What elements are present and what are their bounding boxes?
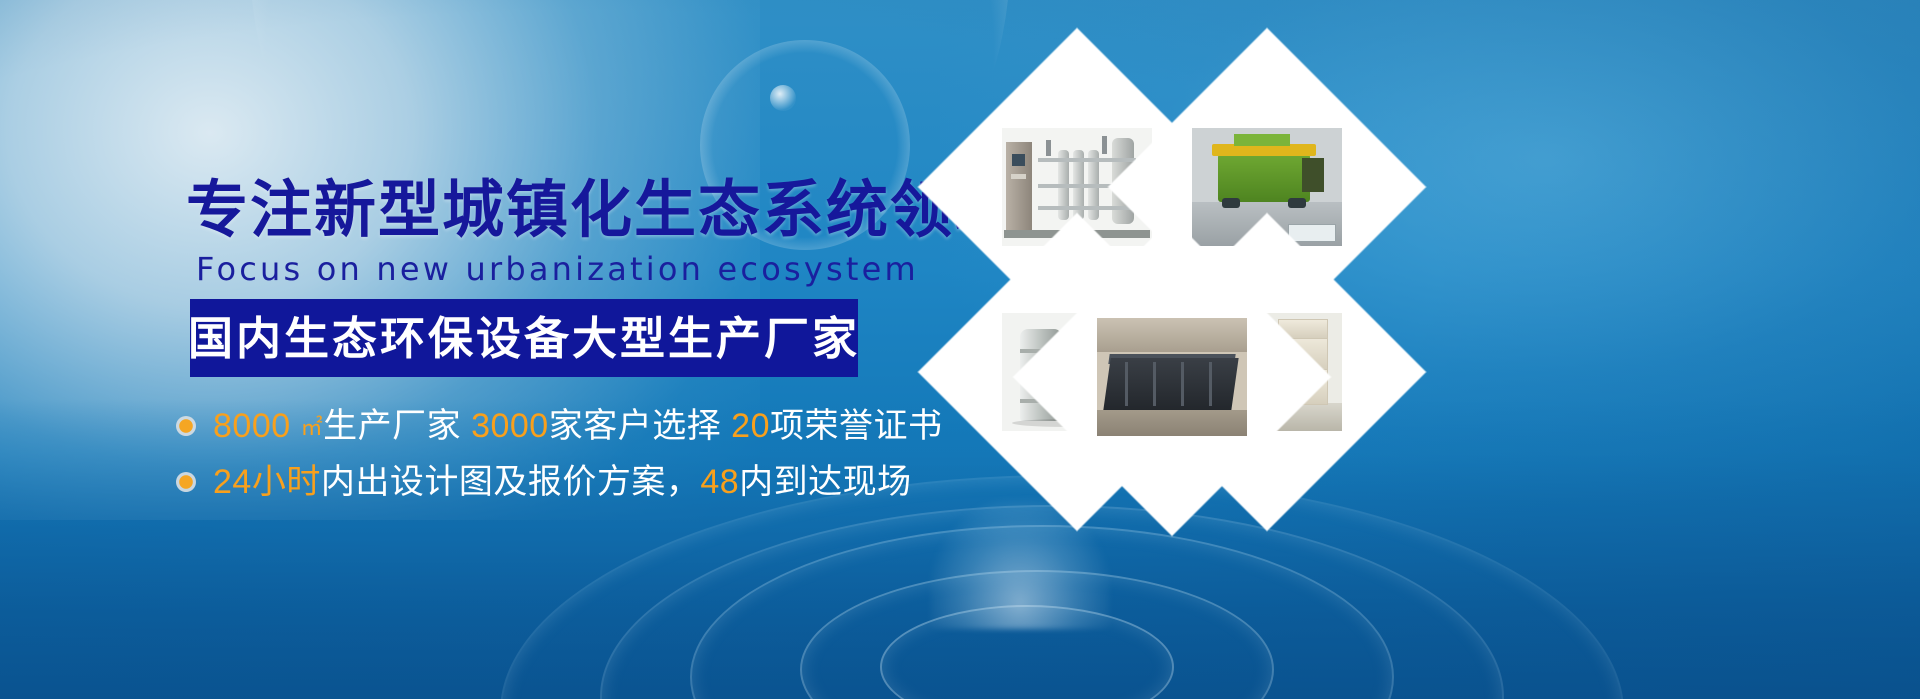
bullet-dot-icon <box>176 416 196 436</box>
bullet-2-seg-2: 48 <box>700 463 739 501</box>
bullet-text-1: 8000 ㎡生产厂家 3000家客户选择 20项荣誉证书 <box>213 409 942 443</box>
list-item: 24小时内出设计图及报价方案，48内到达现场 <box>176 458 942 506</box>
bullet-1-seg-2: 生产厂家 <box>323 407 471 445</box>
list-item: 8000 ㎡生产厂家 3000家客户选择 20项荣誉证书 <box>176 402 942 450</box>
feature-bullets: 8000 ㎡生产厂家 3000家客户选择 20项荣誉证书 24小时内出设计图及报… <box>176 402 942 514</box>
black-tank-cover-image <box>1097 318 1247 436</box>
bullet-1-seg-3: 3000 <box>471 407 549 445</box>
tagline-box: 国内生态环保设备大型生产厂家 <box>190 299 858 377</box>
bullet-2-seg-3: 内到达现场 <box>739 463 912 501</box>
banner-copy: 专注新型城镇化生态系统领域 Focus on new urbanization … <box>0 0 920 699</box>
bullet-1-seg-5: 20 <box>731 407 770 445</box>
tagline-text: 国内生态环保设备大型生产厂家 <box>188 316 860 361</box>
product-gallery <box>905 20 1920 660</box>
bullet-2-seg-1: 内出设计图及报价方案， <box>321 463 701 501</box>
page-subtitle: Focus on new urbanization ecosystem <box>196 250 919 288</box>
hero-banner: 专注新型城镇化生态系统领域 Focus on new urbanization … <box>0 0 1920 699</box>
bullet-2-seg-0: 24小时 <box>213 463 321 501</box>
bullet-1-seg-0: 8000 <box>213 407 301 445</box>
bullet-1-seg-1: ㎡ <box>301 415 324 440</box>
page-title: 专注新型城镇化生态系统领域 <box>186 180 1018 242</box>
bullet-text-2: 24小时内出设计图及报价方案，48内到达现场 <box>213 465 912 499</box>
bullet-dot-icon <box>176 472 196 492</box>
bullet-1-seg-4: 家客户选择 <box>549 407 731 445</box>
